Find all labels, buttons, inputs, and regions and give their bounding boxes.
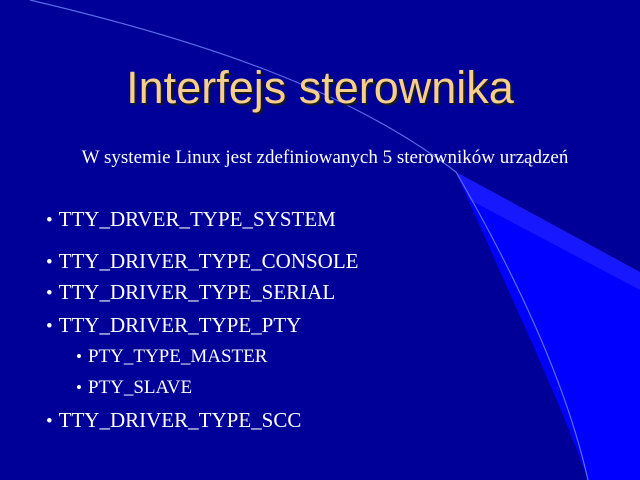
list-item: • TTY_DRIVER_TYPE_PTY xyxy=(0,312,640,338)
list-item: • TTY_DRIVER_TYPE_SCC xyxy=(0,407,640,433)
list-item-label: TTY_DRIVER_TYPE_CONSOLE xyxy=(59,248,359,274)
bullet-icon: • xyxy=(76,379,82,396)
list-item-label: TTY_DRIVER_TYPE_SERIAL xyxy=(59,279,336,305)
bullet-icon: • xyxy=(46,284,53,303)
bullet-icon: • xyxy=(46,317,53,336)
list-item-label: TTY_DRVER_TYPE_SYSTEM xyxy=(59,206,336,232)
list-item: • TTY_DRIVER_TYPE_CONSOLE xyxy=(0,248,640,274)
list-item-label: PTY_TYPE_MASTER xyxy=(88,345,267,369)
presentation-slide: Interfejs sterownika W systemie Linux je… xyxy=(0,0,640,480)
bullet-icon: • xyxy=(76,348,82,365)
list-item: • PTY_SLAVE xyxy=(0,376,640,400)
slide-title: Interfejs sterownika xyxy=(0,63,640,113)
bullet-icon: • xyxy=(46,412,53,431)
list-item-label: TTY_DRIVER_TYPE_SCC xyxy=(59,407,302,433)
slide-subtitle: W systemie Linux jest zdefiniowanych 5 s… xyxy=(40,146,610,170)
bullet-icon: • xyxy=(46,211,53,230)
list-item: • TTY_DRIVER_TYPE_SERIAL xyxy=(0,279,640,305)
list-item-label: TTY_DRIVER_TYPE_PTY xyxy=(59,312,302,338)
bullet-list: • TTY_DRVER_TYPE_SYSTEM • TTY_DRIVER_TYP… xyxy=(0,206,640,438)
bullet-icon: • xyxy=(46,253,53,272)
list-item-label: PTY_SLAVE xyxy=(88,376,192,400)
list-item: • PTY_TYPE_MASTER xyxy=(0,345,640,369)
list-item: • TTY_DRVER_TYPE_SYSTEM xyxy=(0,206,640,232)
